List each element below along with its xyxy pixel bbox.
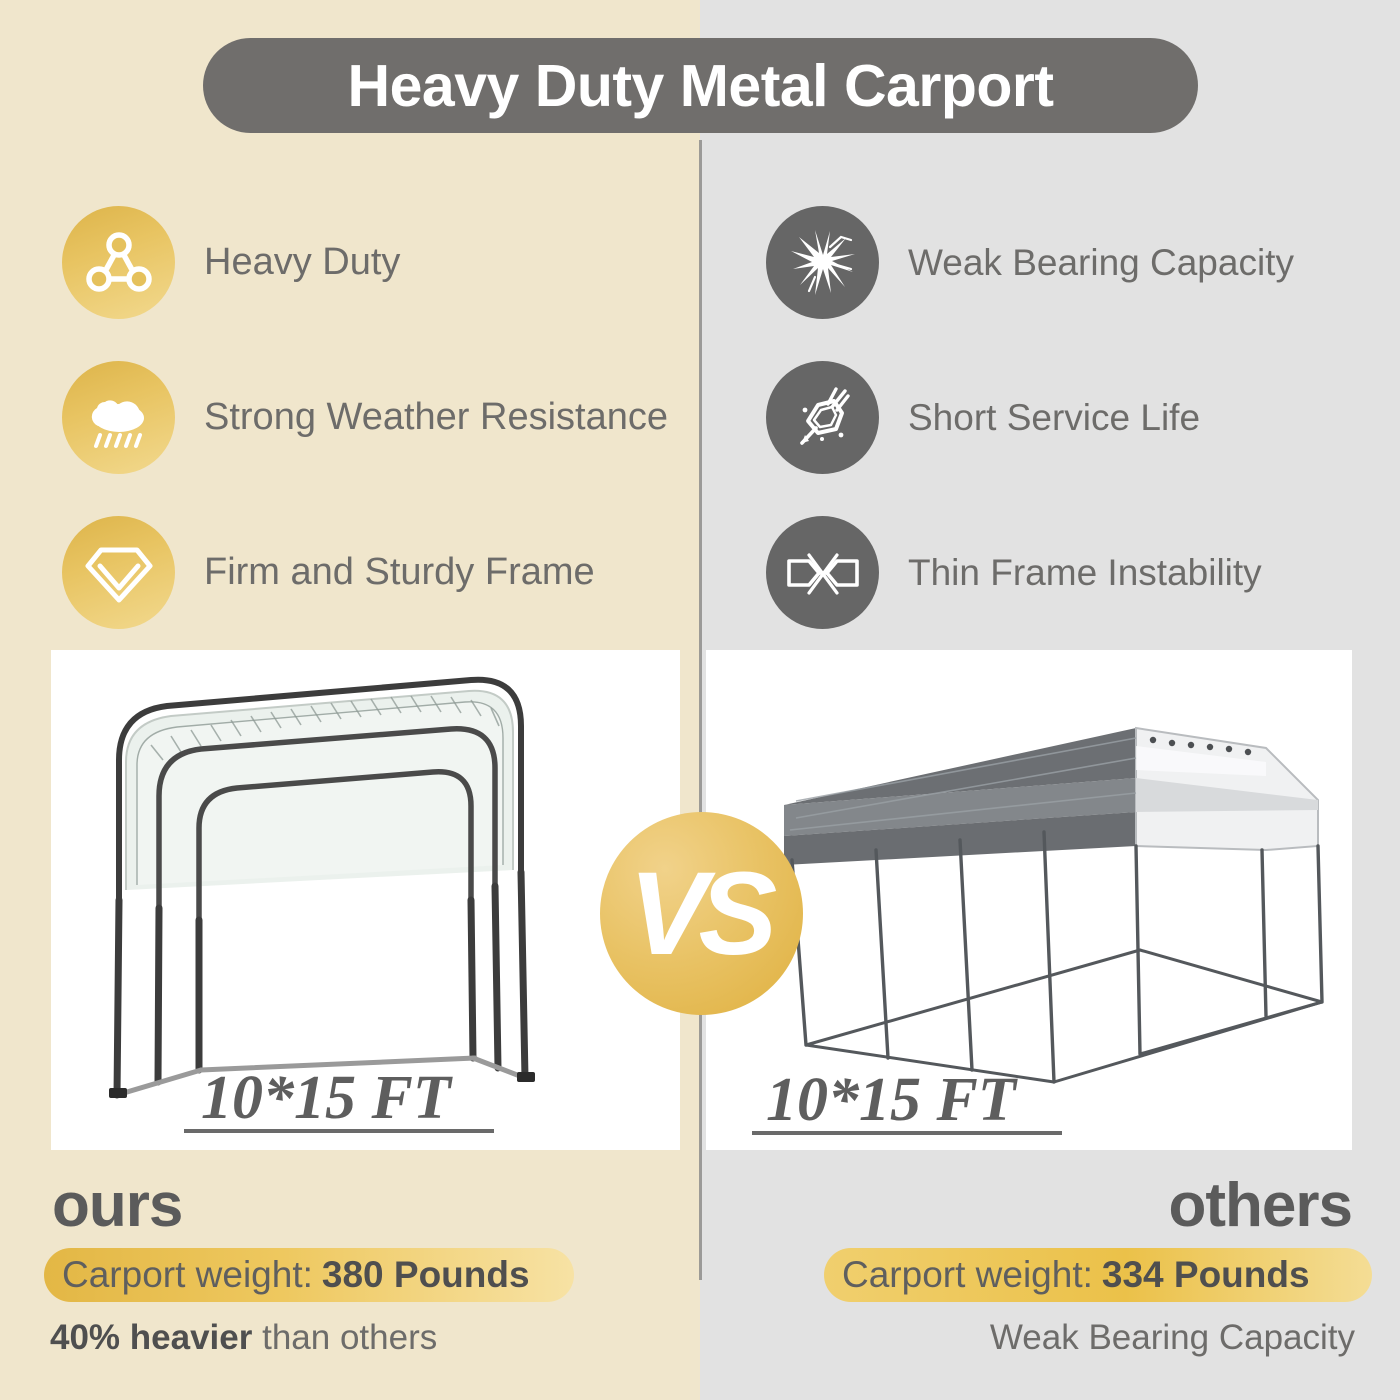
cracked-impact-icon bbox=[766, 206, 879, 319]
center-divider bbox=[699, 140, 702, 1280]
carport-comparison-poster: Heavy Duty Metal Carport Heavy Duty bbox=[0, 0, 1400, 1400]
others-weight-pill: Carport weight: 334 Pounds bbox=[824, 1248, 1372, 1302]
feature-row-weak-bearing: Weak Bearing Capacity bbox=[766, 185, 1386, 340]
others-weight-value: 334 Pounds bbox=[1102, 1254, 1310, 1296]
others-feature-list: Weak Bearing Capacity bbox=[766, 185, 1386, 650]
molecule-triangle-icon bbox=[62, 206, 175, 319]
feature-row-short-life: Short Service Life bbox=[766, 340, 1386, 495]
feature-label-weather: Strong Weather Resistance bbox=[204, 396, 668, 439]
feature-label-short-life: Short Service Life bbox=[908, 397, 1200, 438]
ours-brand-word: ours bbox=[52, 1170, 182, 1241]
ours-product-image: 10*15 FT 10*15 FT bbox=[51, 650, 680, 1150]
ours-footnote: 40% heavier than others bbox=[50, 1318, 437, 1358]
others-footnote: Weak Bearing Capacity bbox=[990, 1318, 1355, 1358]
ours-weight-value: 380 Pounds bbox=[322, 1254, 530, 1296]
vs-label: VS bbox=[629, 855, 774, 973]
svg-text:10*15 FT: 10*15 FT bbox=[201, 1064, 453, 1132]
ours-weight-pill: Carport weight: 380 Pounds bbox=[44, 1248, 574, 1302]
feature-row-weather: Strong Weather Resistance bbox=[62, 340, 682, 495]
feature-label-thin-frame: Thin Frame Instability bbox=[908, 552, 1262, 593]
ours-weight-prefix: Carport weight: bbox=[62, 1254, 313, 1296]
feature-label-sturdy-frame: Firm and Sturdy Frame bbox=[204, 551, 595, 594]
ours-footnote-strong: 40% heavier bbox=[50, 1318, 252, 1357]
page-title-pill: Heavy Duty Metal Carport bbox=[203, 38, 1198, 133]
others-product-image: 10*15 FT 10*15 FT bbox=[706, 650, 1352, 1150]
feature-label-weak-bearing: Weak Bearing Capacity bbox=[908, 242, 1294, 283]
others-brand-word: others bbox=[1169, 1170, 1352, 1241]
svg-text:10*15 FT: 10*15 FT bbox=[766, 1066, 1018, 1134]
broken-shield-icon bbox=[766, 361, 879, 474]
page-title: Heavy Duty Metal Carport bbox=[347, 52, 1053, 120]
rain-cloud-icon bbox=[62, 361, 175, 474]
feature-row-sturdy-frame: Firm and Sturdy Frame bbox=[62, 495, 682, 650]
diamond-gem-icon bbox=[62, 516, 175, 629]
ours-feature-list: Heavy Duty Strong Weather Resistance bbox=[62, 185, 682, 650]
vs-badge: VS bbox=[600, 812, 803, 1015]
others-weight-prefix: Carport weight: bbox=[842, 1254, 1093, 1296]
feature-row-thin-frame: Thin Frame Instability bbox=[766, 495, 1386, 650]
feature-label-heavy-duty: Heavy Duty bbox=[204, 241, 400, 284]
crossed-thin-frame-icon bbox=[766, 516, 879, 629]
feature-row-heavy-duty: Heavy Duty bbox=[62, 185, 682, 340]
ours-footnote-rest: than others bbox=[252, 1318, 437, 1357]
